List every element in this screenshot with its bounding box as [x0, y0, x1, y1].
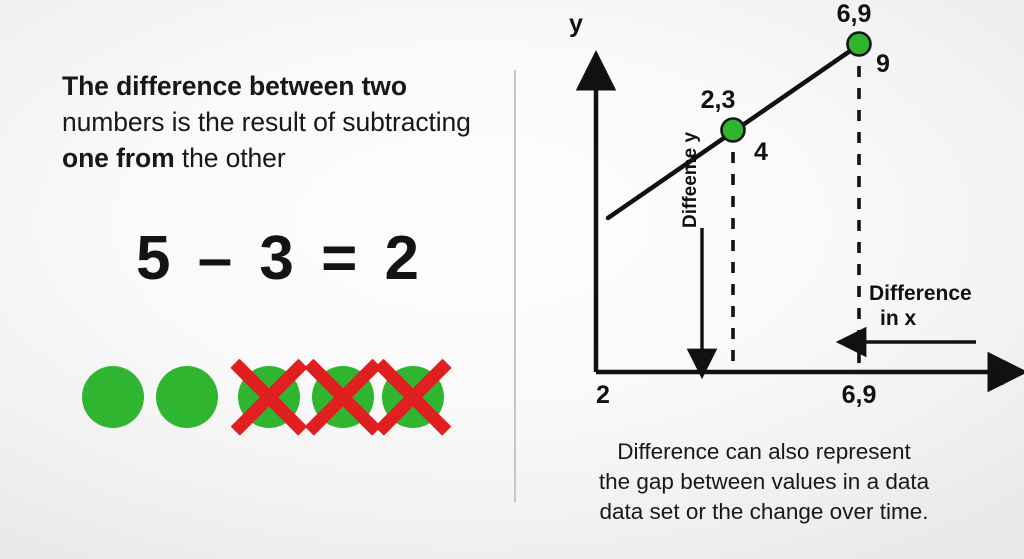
red-cross-icon — [228, 356, 310, 438]
headline-line-2: numbers is the result of subtracting — [62, 104, 512, 140]
headline-line-3-normal: the other — [175, 143, 286, 173]
data-point-1[interactable] — [722, 119, 745, 142]
data-point-2-value: 9 — [876, 50, 890, 78]
x-axis-label: x — [990, 363, 1004, 391]
data-point-1-label: 2,3 — [701, 86, 736, 114]
green-circle-icon — [82, 366, 144, 428]
counter-dot-5 — [382, 366, 444, 428]
left-panel: The difference between two numbers is th… — [0, 0, 514, 559]
data-point-2[interactable] — [848, 33, 871, 56]
red-cross-icon — [372, 356, 454, 438]
headline-text: The difference between two numbers is th… — [62, 68, 512, 176]
counter-dot-3 — [238, 366, 300, 428]
counter-dot-4 — [312, 366, 374, 428]
headline-line-3-bold: one from — [62, 143, 175, 173]
caption-line-2: the gap between values in a data — [514, 467, 1014, 497]
right-panel: y x Diffeeme y Difference in x 2,3 4 6,9… — [514, 0, 1024, 559]
difference-y-label: Diffeeme y — [680, 131, 701, 228]
counter-dot-1 — [82, 366, 144, 428]
difference-x-label-line2: in x — [880, 307, 916, 330]
counter-dots-row — [82, 366, 442, 434]
y-axis-label: y — [569, 10, 583, 38]
data-point-1-value: 4 — [754, 138, 768, 166]
caption-line-1: Difference can also represent — [514, 437, 1014, 467]
chart-caption: Difference can also represent the gap be… — [514, 437, 1014, 527]
x-tick-label-2: 6,9 — [842, 381, 877, 409]
x-tick-label-1: 2 — [596, 381, 610, 409]
difference-x-label-line1: Difference — [869, 282, 972, 305]
slide-canvas: The difference between two numbers is th… — [0, 0, 1024, 559]
caption-line-3: data set or the change over time. — [514, 497, 1014, 527]
green-circle-icon — [156, 366, 218, 428]
headline-line-1: The difference between two — [62, 68, 512, 104]
data-point-2-label: 6,9 — [837, 0, 872, 28]
equation-display: 5 – 3 = 2 — [136, 228, 424, 290]
counter-dot-2 — [156, 366, 218, 428]
difference-line-chart: y x Diffeeme y Difference in x 2,3 4 6,9… — [514, 0, 1024, 430]
